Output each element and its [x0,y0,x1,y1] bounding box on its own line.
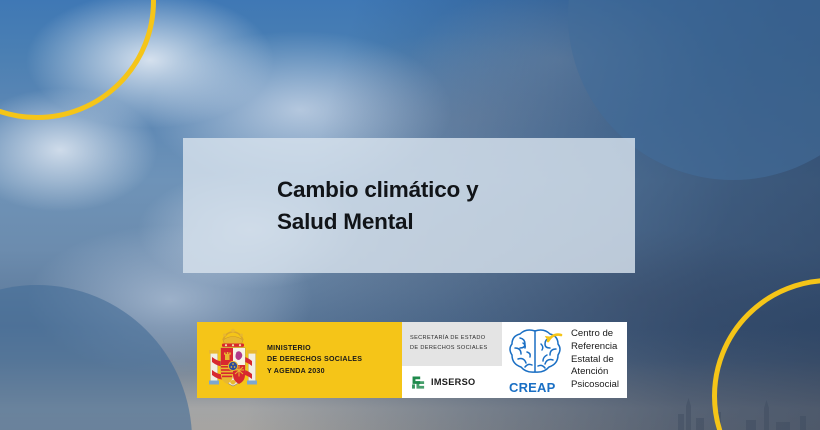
creap-line-3: Estatal de [571,354,619,367]
logo-bar: MINISTERIO DE DERECHOS SOCIALES Y AGENDA… [197,322,627,398]
creap-line-1: Centro de [571,328,619,341]
secretaria-box: SECRETARÍA DE ESTADO DE DERECHOS SOCIALE… [402,322,502,366]
creap-line-4: Atención [571,366,619,379]
ministry-line-3: Y AGENDA 2030 [267,366,362,377]
creap-logo-block: CREAP Centro de Referencia Estatal de At… [502,322,627,398]
imserso-label: IMSERSO [431,377,475,387]
creap-mark: CREAP [505,324,567,396]
presentation-slide: Cambio climático y Salud Mental [0,0,820,430]
ministry-line-2: DE DERECHOS SOCIALES [267,354,362,365]
ministry-line-1: MINISTERIO [267,343,362,354]
imserso-logo-block: IMSERSO [402,366,502,398]
creap-full-name: Centro de Referencia Estatal de Atención… [571,328,619,392]
spanish-coat-of-arms-icon [206,327,260,393]
creap-line-2: Referencia [571,341,619,354]
brain-icon [507,326,565,378]
secretaria-line-1: SECRETARÍA DE ESTADO [410,334,502,344]
ministry-name: MINISTERIO DE DERECHOS SOCIALES Y AGENDA… [267,343,362,377]
secretaria-line-2: DE DERECHOS SOCIALES [410,344,502,354]
creap-line-5: Psicosocial [571,379,619,392]
creap-acronym: CREAP [509,380,556,395]
title-line-2: Salud Mental [277,206,635,238]
secretaria-imserso-block: SECRETARÍA DE ESTADO DE DERECHOS SOCIALE… [402,322,502,398]
imserso-logo-icon [410,374,427,391]
title-card: Cambio climático y Salud Mental [183,138,635,273]
ministry-logo-block: MINISTERIO DE DERECHOS SOCIALES Y AGENDA… [197,322,402,398]
title-line-1: Cambio climático y [277,174,635,206]
